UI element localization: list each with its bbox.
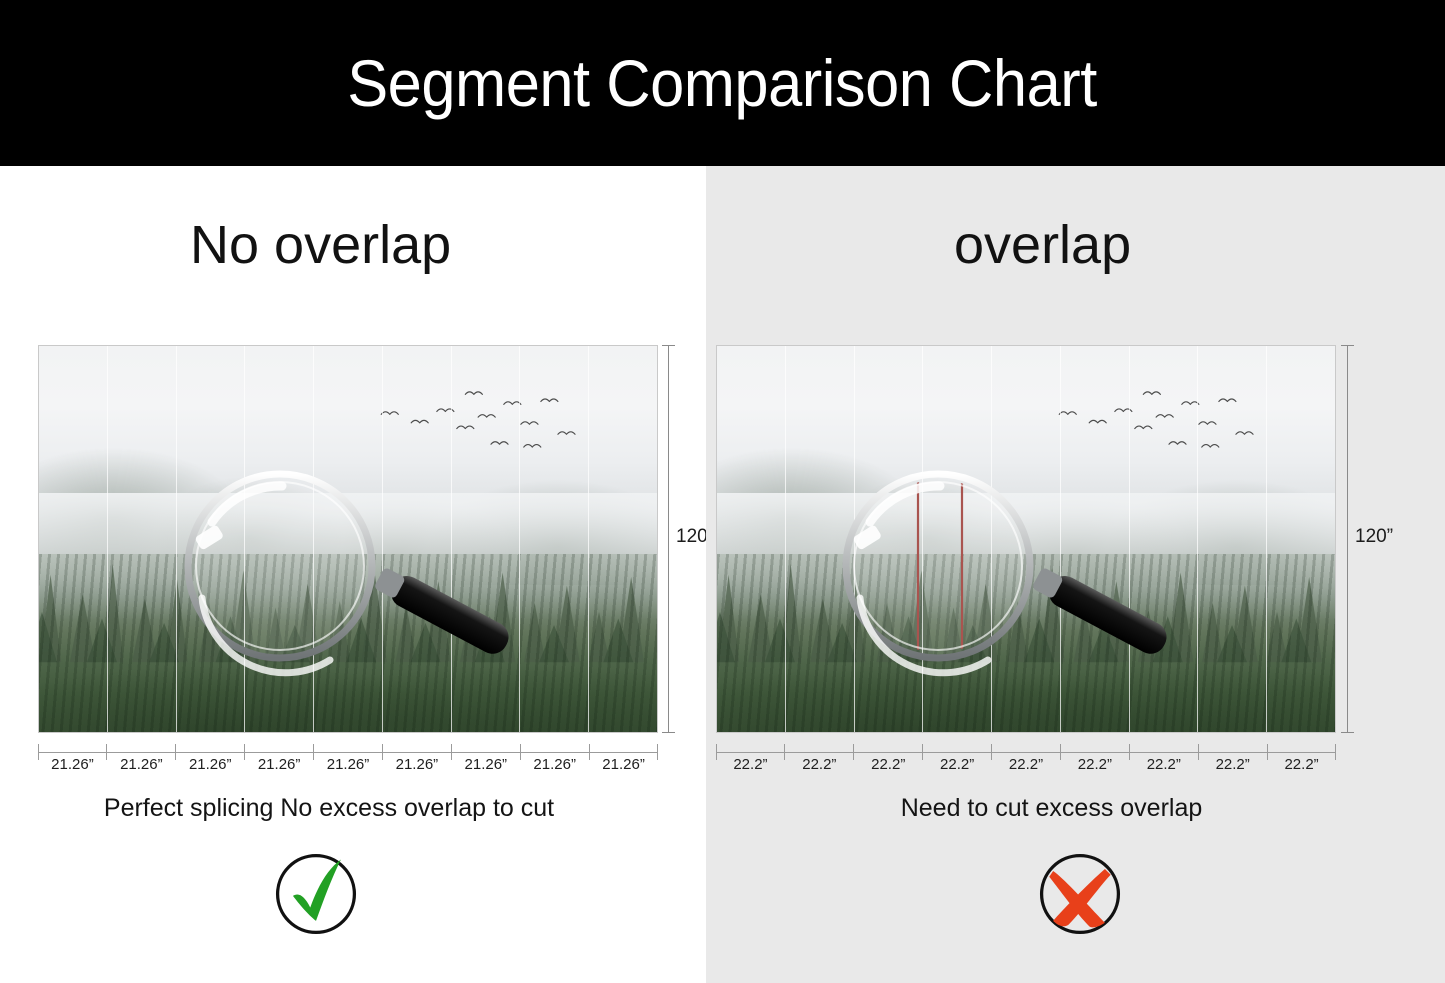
segment-label: 22.2” xyxy=(1198,756,1267,773)
conifer-silhouette-icon xyxy=(38,531,658,662)
comparison-content: No overlap xyxy=(0,166,1445,983)
mural-right xyxy=(716,345,1336,733)
green-check-icon xyxy=(268,846,364,942)
segment-label: 21.26” xyxy=(589,756,658,773)
segment-label: 21.26” xyxy=(107,756,176,773)
segment-label: 21.26” xyxy=(451,756,520,773)
fog-layer-lower xyxy=(717,554,1335,732)
height-dimension-label-right: 120” xyxy=(1355,526,1393,548)
segment-label: 22.2” xyxy=(716,756,785,773)
birds-flock-icon xyxy=(1014,373,1298,466)
panel-seam-lines-right xyxy=(717,346,1335,732)
segment-label: 22.2” xyxy=(923,756,992,773)
segment-label: 22.2” xyxy=(1267,756,1336,773)
caption-right: Need to cut excess overlap xyxy=(682,796,1421,821)
conifer-silhouette-icon xyxy=(716,531,1336,662)
title-banner: Segment Comparison Chart xyxy=(0,0,1445,166)
segment-label: 21.26” xyxy=(520,756,589,773)
forest-mural-image-right xyxy=(716,345,1336,733)
height-dimension-line-right xyxy=(1347,345,1348,733)
mural-left xyxy=(38,345,658,733)
fog-layer-upper xyxy=(717,346,1335,585)
segment-label: 21.26” xyxy=(38,756,107,773)
segment-label: 22.2” xyxy=(1129,756,1198,773)
forest-mural-image-left xyxy=(38,345,658,733)
width-dimension-left: 21.26” 21.26” 21.26” 21.26” 21.26” 21.26… xyxy=(38,744,658,774)
panel-no-overlap: No overlap xyxy=(0,166,706,983)
segment-label: 22.2” xyxy=(785,756,854,773)
segment-label: 21.26” xyxy=(382,756,451,773)
panel-seam-lines-left xyxy=(39,346,657,732)
segment-label: 21.26” xyxy=(314,756,383,773)
page-title: Segment Comparison Chart xyxy=(348,50,1098,116)
segment-label: 22.2” xyxy=(854,756,923,773)
panel-right-heading: overlap xyxy=(954,218,1131,272)
segment-labels-left: 21.26” 21.26” 21.26” 21.26” 21.26” 21.26… xyxy=(38,756,658,773)
red-cross-icon xyxy=(1032,846,1128,942)
segment-label: 21.26” xyxy=(245,756,314,773)
birds-flock-icon xyxy=(336,373,620,466)
caption-left: Perfect splicing No excess overlap to cu… xyxy=(0,796,682,821)
width-dimension-right: 22.2” 22.2” 22.2” 22.2” 22.2” 22.2” 22.2… xyxy=(716,744,1336,774)
fog-layer-lower xyxy=(39,554,657,732)
segment-label: 22.2” xyxy=(992,756,1061,773)
panel-left-heading: No overlap xyxy=(190,218,451,272)
panel-overlap: overlap xyxy=(706,166,1445,983)
height-dimension-line-left xyxy=(668,345,669,733)
fog-layer-mid xyxy=(39,493,657,655)
segment-label: 22.2” xyxy=(1060,756,1129,773)
fog-layer-upper xyxy=(39,346,657,585)
segment-label: 21.26” xyxy=(176,756,245,773)
segment-labels-right: 22.2” 22.2” 22.2” 22.2” 22.2” 22.2” 22.2… xyxy=(716,756,1336,773)
fog-layer-mid xyxy=(717,493,1335,655)
